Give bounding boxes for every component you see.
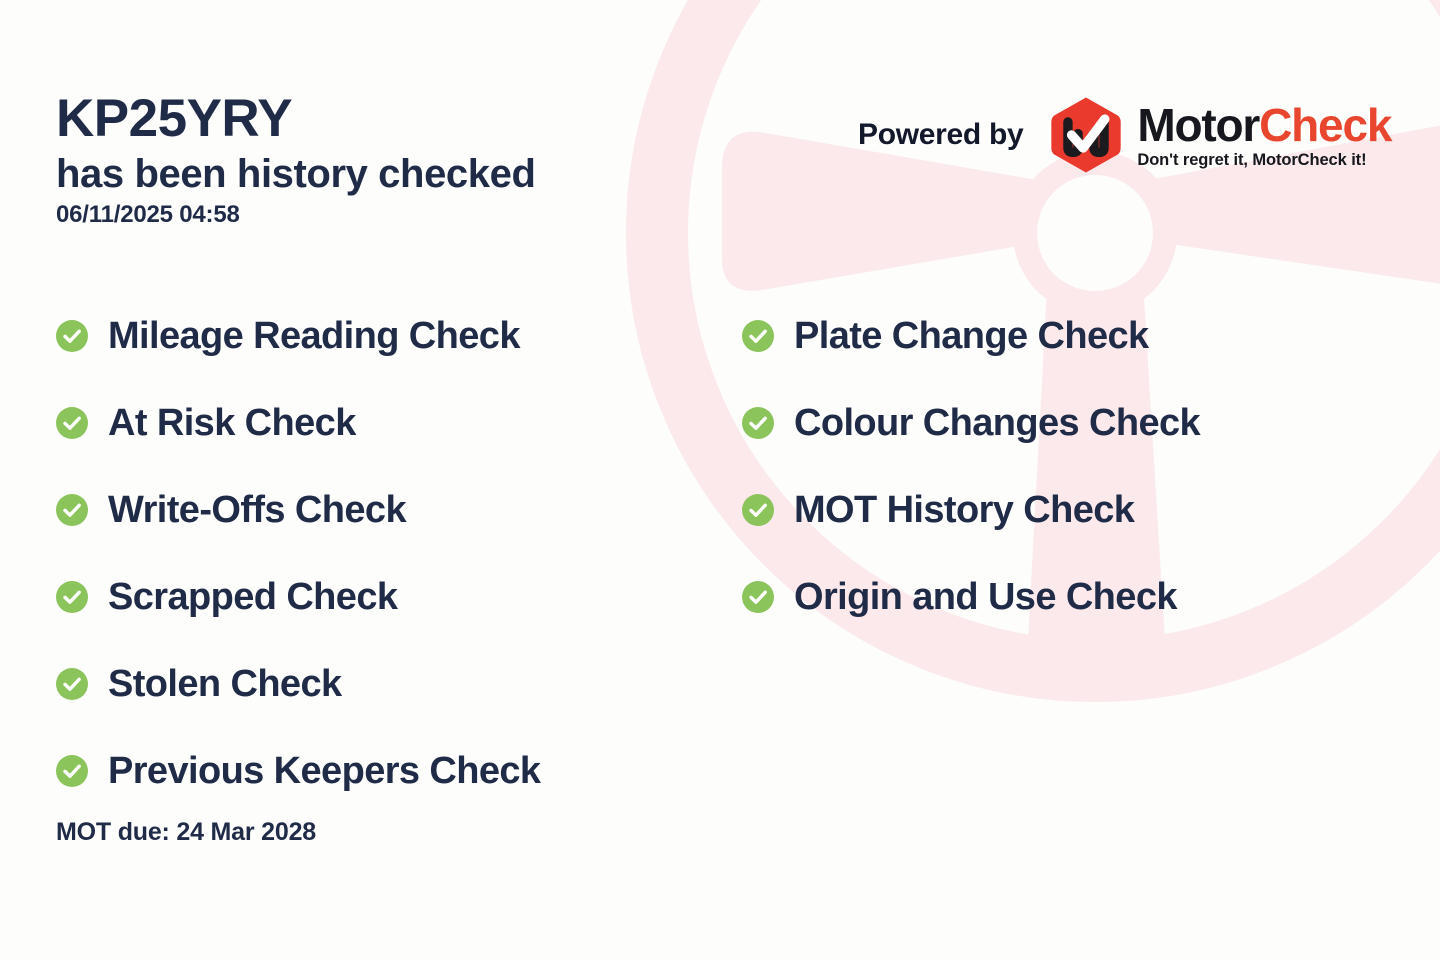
list-item: Scrapped Check	[56, 553, 716, 640]
motorcheck-wordmark-block: MotorCheck Don't regret it, MotorCheck i…	[1137, 102, 1391, 169]
check-label: Colour Changes Check	[794, 404, 1200, 442]
list-item: MOT History Check	[742, 466, 1382, 553]
mot-due-label: MOT due: 24 Mar 2028	[56, 818, 316, 847]
list-item: Write-Offs Check	[56, 466, 716, 553]
check-circle-icon	[56, 668, 88, 700]
page-subtitle: has been history checked	[56, 153, 716, 195]
check-label: Origin and Use Check	[794, 578, 1177, 616]
check-label: Mileage Reading Check	[108, 317, 520, 355]
brand-tagline: Don't regret it, MotorCheck it!	[1137, 152, 1391, 169]
check-list-right: Plate Change Check Colour Changes Check …	[742, 292, 1382, 640]
brand-block: Powered by MotorCheck Don't regret it, M…	[858, 96, 1391, 174]
check-label: Plate Change Check	[794, 317, 1149, 355]
list-item: Origin and Use Check	[742, 553, 1382, 640]
check-label: MOT History Check	[794, 491, 1134, 529]
page-title: KP25YRY	[56, 92, 716, 145]
check-circle-icon	[56, 494, 88, 526]
powered-by-label: Powered by	[858, 118, 1023, 152]
wordmark-check: Check	[1259, 99, 1391, 151]
list-item: Mileage Reading Check	[56, 292, 716, 379]
check-circle-icon	[56, 320, 88, 352]
check-label: Write-Offs Check	[108, 491, 406, 529]
check-label: Previous Keepers Check	[108, 752, 540, 790]
list-item: Colour Changes Check	[742, 379, 1382, 466]
wordmark-motor: Motor	[1137, 99, 1259, 151]
check-list-left: Mileage Reading Check At Risk Check Writ…	[56, 292, 716, 814]
check-circle-icon	[742, 407, 774, 439]
list-item: Plate Change Check	[742, 292, 1382, 379]
check-timestamp: 06/11/2025 04:58	[56, 201, 716, 229]
header-block: KP25YRY has been history checked 06/11/2…	[56, 92, 716, 229]
check-circle-icon	[742, 581, 774, 613]
motorcheck-logo[interactable]: MotorCheck Don't regret it, MotorCheck i…	[1049, 96, 1391, 174]
motorcheck-hexagon-icon	[1049, 96, 1123, 174]
list-item: Previous Keepers Check	[56, 727, 716, 814]
vehicle-history-check-card: KP25YRY has been history checked 06/11/2…	[0, 0, 1440, 960]
check-circle-icon	[742, 494, 774, 526]
check-circle-icon	[56, 407, 88, 439]
check-circle-icon	[56, 755, 88, 787]
check-circle-icon	[742, 320, 774, 352]
check-label: Scrapped Check	[108, 578, 397, 616]
list-item: At Risk Check	[56, 379, 716, 466]
check-label: At Risk Check	[108, 404, 356, 442]
check-label: Stolen Check	[108, 665, 342, 703]
check-circle-icon	[56, 581, 88, 613]
list-item: Stolen Check	[56, 640, 716, 727]
motorcheck-wordmark: MotorCheck	[1137, 102, 1391, 148]
